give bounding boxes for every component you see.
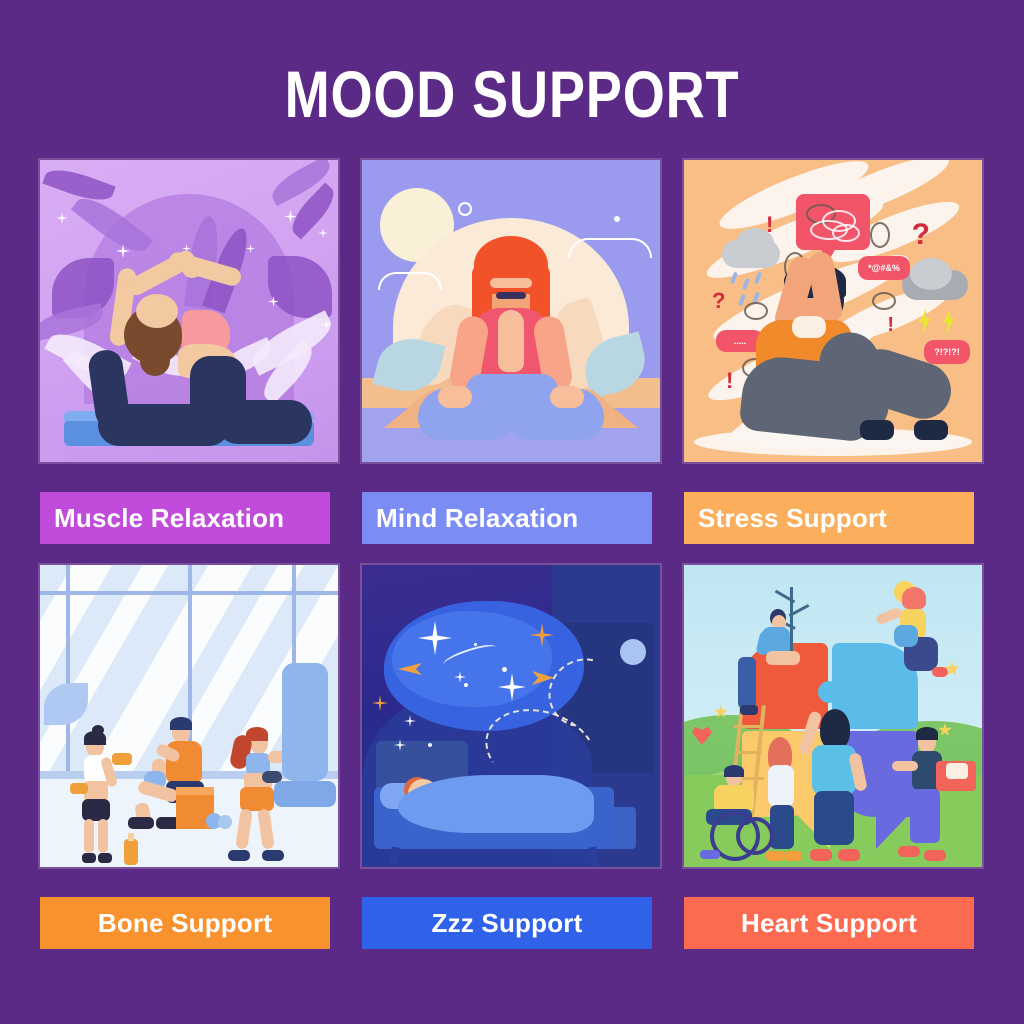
label-stress-support[interactable]: Stress Support bbox=[684, 492, 974, 544]
card-heart-support[interactable]: Heart Support bbox=[684, 565, 982, 949]
card-zzz-support[interactable]: Zzz Support bbox=[362, 565, 660, 949]
page-title: MOOD SUPPORT bbox=[92, 56, 932, 132]
label-text: Mind Relaxation bbox=[376, 503, 578, 534]
label-text: Stress Support bbox=[698, 503, 887, 534]
label-text: Bone Support bbox=[98, 908, 272, 939]
label-muscle-relaxation[interactable]: Muscle Relaxation bbox=[40, 492, 330, 544]
scribble-bubble bbox=[796, 194, 870, 250]
label-mind-relaxation[interactable]: Mind Relaxation bbox=[362, 492, 652, 544]
label-text: Heart Support bbox=[741, 908, 917, 939]
illustration-yoga bbox=[40, 160, 338, 462]
card-bone-support[interactable]: Bone Support bbox=[40, 565, 338, 949]
illustration-gym bbox=[40, 565, 338, 867]
label-zzz-support[interactable]: Zzz Support bbox=[362, 897, 652, 949]
card-stress-support[interactable]: *@#&% ..... ?!?!?! ! ? ? ! ! bbox=[684, 160, 982, 544]
illustration-sleep bbox=[362, 565, 660, 867]
card-row-2: Bone Support bbox=[0, 565, 1024, 970]
illustration-meditation bbox=[362, 160, 660, 462]
symbols-bubble: *@#&% bbox=[858, 256, 910, 280]
card-row-1: Muscle Relaxation bbox=[0, 160, 1024, 565]
label-heart-support[interactable]: Heart Support bbox=[684, 897, 974, 949]
card-grid: Muscle Relaxation bbox=[0, 160, 1024, 970]
label-text: Zzz Support bbox=[432, 908, 583, 939]
label-bone-support[interactable]: Bone Support bbox=[40, 897, 330, 949]
poster: MOOD SUPPORT bbox=[0, 0, 1024, 1024]
illustration-heart-puzzle bbox=[684, 565, 982, 867]
exclaim-bubble: ?!?!?! bbox=[924, 340, 970, 364]
label-text: Muscle Relaxation bbox=[54, 503, 284, 534]
illustration-stress: *@#&% ..... ?!?!?! ! ? ? ! ! bbox=[684, 160, 982, 462]
card-mind-relaxation[interactable]: Mind Relaxation bbox=[362, 160, 660, 544]
card-muscle-relaxation[interactable]: Muscle Relaxation bbox=[40, 160, 338, 544]
